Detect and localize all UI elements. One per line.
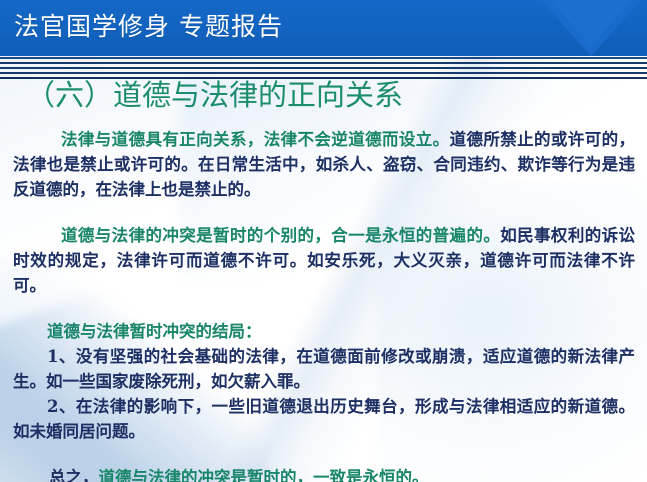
list-item-2: 2、在法律的影响下，一些旧道德退出历史舞台，形成与法律相适应的新道德。如未婚同居… (13, 394, 635, 444)
presentation-slide: 法官国学修身 专题报告 （六）道德与法律的正向关系 法律与道德具有正向关系，法律… (0, 0, 647, 482)
rule-line-2 (0, 62, 647, 64)
slide-body: 法律与道德具有正向关系，法律不会逆道德而设立。道德所禁止的或许可的，法律也是禁止… (13, 127, 635, 475)
list-subheading: 道德与法律暂时冲突的结局： (13, 319, 635, 344)
conclusion-line: 总之，道德与法律的冲突是暂时的，一致是永恒的。 (13, 465, 635, 482)
section-heading: （六）道德与法律的正向关系 (26, 76, 403, 114)
list-item-1: 1、没有坚强的社会基础的法律，在道德面前修改或崩溃，适应道德的新法律产生。如一些… (13, 344, 635, 394)
paragraph-1: 法律与道德具有正向关系，法律不会逆道德而设立。道德所禁止的或许可的，法律也是禁止… (13, 127, 635, 202)
paragraph-1-lead: 法律与道德具有正向关系，法律不会逆道德而设立。 (61, 130, 450, 149)
conclusion-rest: 道德与法律的冲突是暂时的，一致是永恒的。 (99, 468, 429, 482)
rule-line-1 (0, 57, 647, 59)
header-banner: 法官国学修身 专题报告 (0, 0, 647, 56)
paragraph-2-lead: 道德与法律的冲突是暂时的个别的，合一是永恒的普遍的。 (61, 226, 500, 245)
triangle-down-highlight-icon (551, 0, 631, 46)
conclusion-lead: 总之， (49, 468, 99, 482)
rule-line-3 (0, 67, 647, 69)
rule-line-4 (0, 72, 647, 74)
header-title: 法官国学修身 专题报告 (14, 5, 283, 49)
paragraph-2: 道德与法律的冲突是暂时的个别的，合一是永恒的普遍的。如民事权利的诉讼时效的规定，… (13, 223, 635, 298)
